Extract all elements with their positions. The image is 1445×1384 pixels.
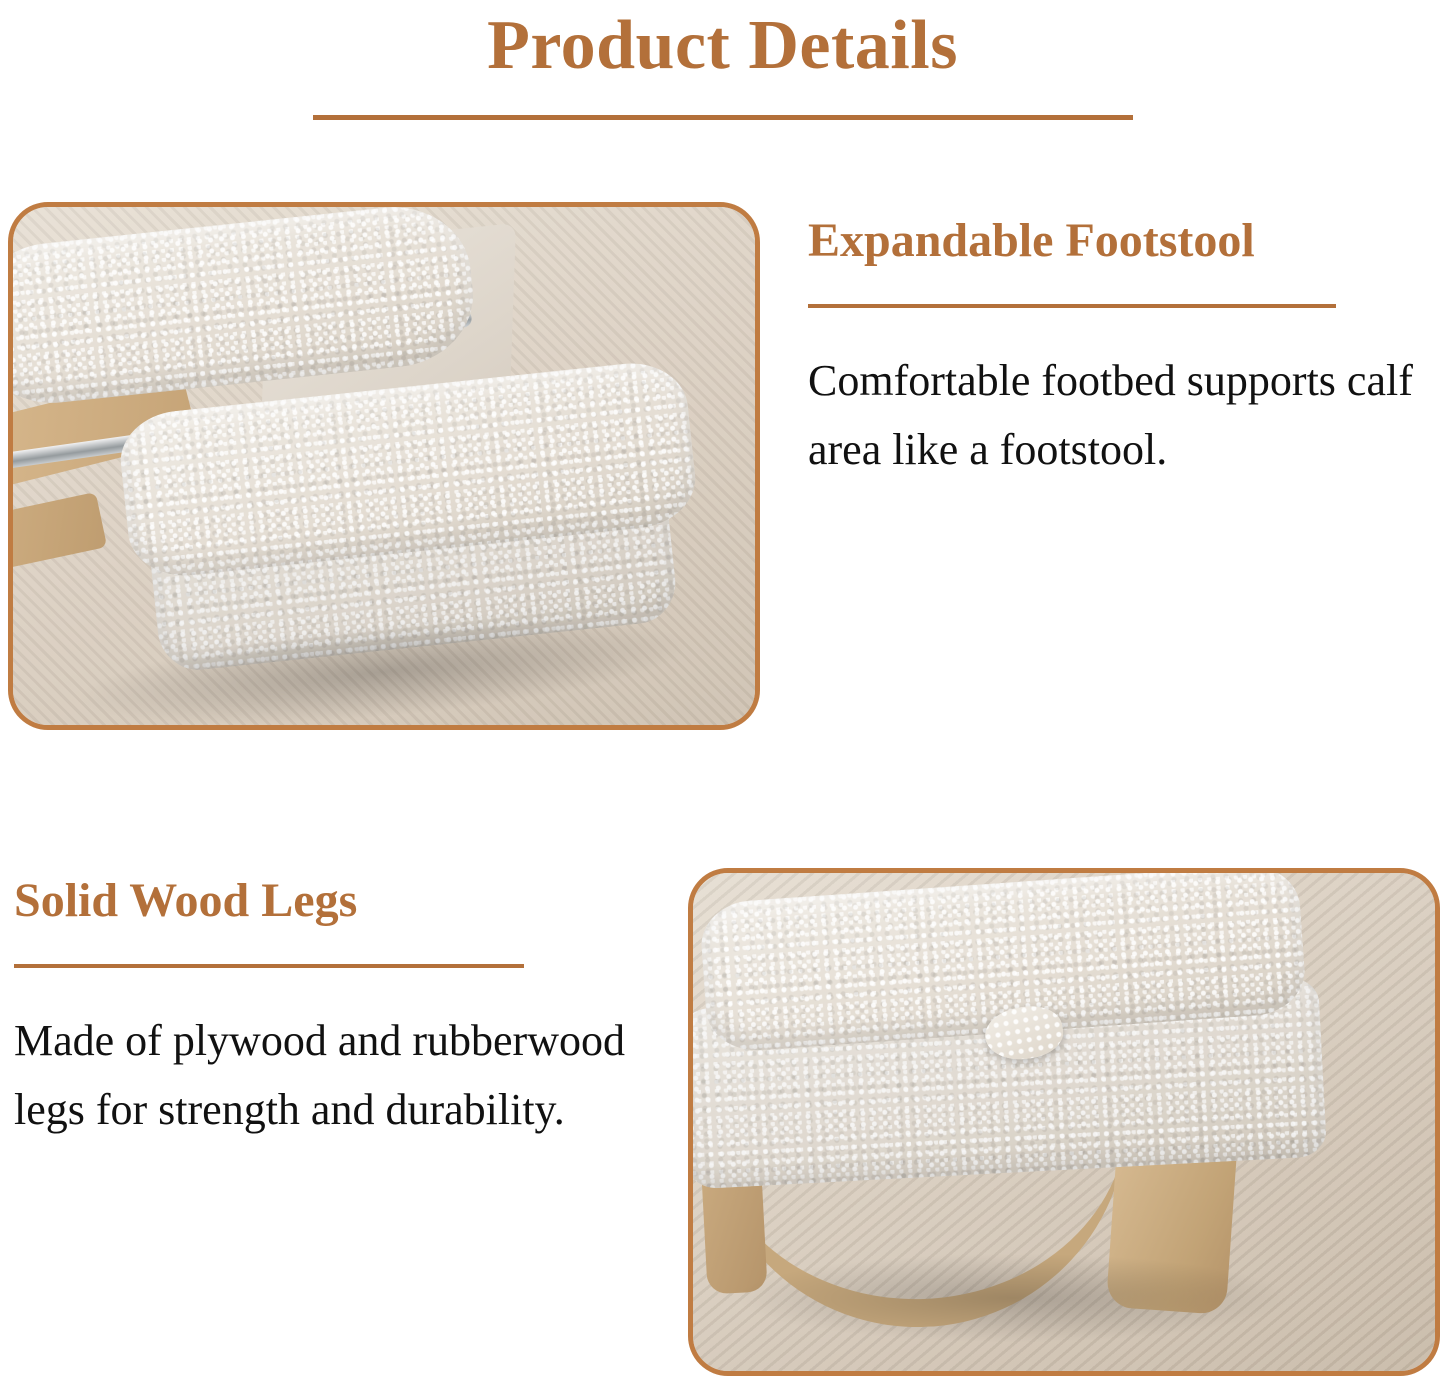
page-header: Product Details: [0, 0, 1445, 120]
title-divider: [313, 115, 1133, 120]
product-photo-expandable-footstool: [8, 202, 760, 730]
feature-block-expandable-footstool: Expandable Footstool Comfortable footbed…: [808, 212, 1445, 485]
page-title: Product Details: [0, 0, 1445, 87]
feature-divider-2: [14, 964, 524, 968]
feature-divider-1: [808, 304, 1336, 308]
product-details-page: Product Details Expandable Footstool Com…: [0, 0, 1445, 1384]
feature-body-solid-wood-legs: Made of plywood and rubberwood legs for …: [14, 1006, 654, 1145]
feature-body-expandable-footstool: Comfortable footbed supports calf area l…: [808, 346, 1445, 485]
photo-shadow-alt: [733, 1253, 1293, 1343]
feature-title-solid-wood-legs: Solid Wood Legs: [14, 872, 654, 930]
product-photo-solid-wood-legs: [688, 868, 1440, 1376]
feature-block-solid-wood-legs: Solid Wood Legs Made of plywood and rubb…: [14, 872, 654, 1145]
feature-title-expandable-footstool: Expandable Footstool: [808, 212, 1445, 270]
